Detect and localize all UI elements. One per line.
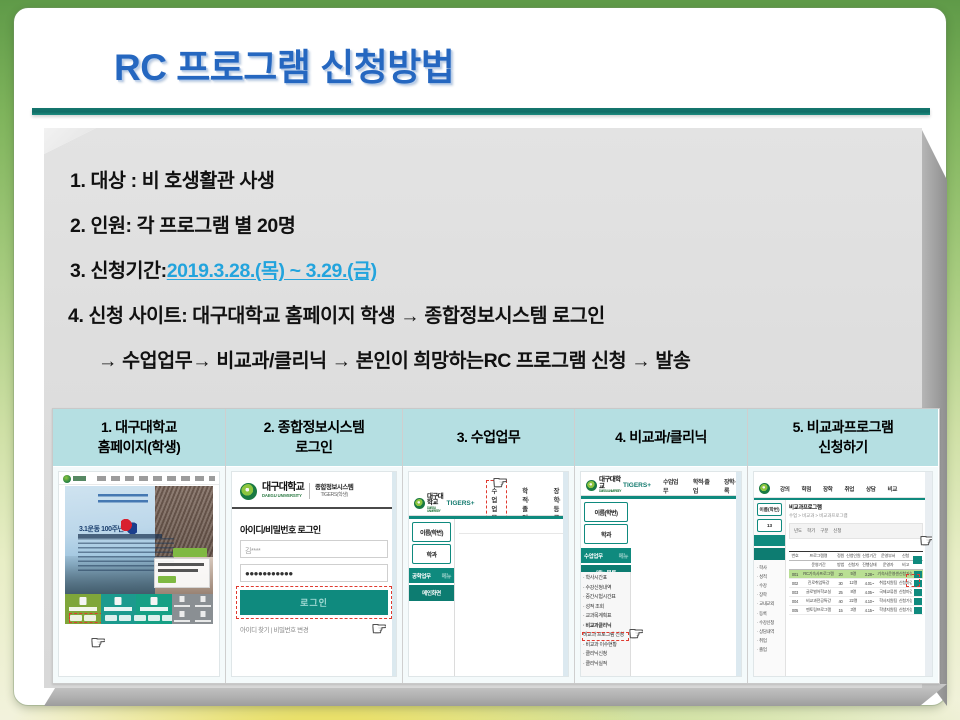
sidebar-section-bar: 공학업무 메뉴	[409, 568, 454, 583]
tile-2-icon	[115, 597, 122, 605]
side-item-2[interactable]: · 수강	[754, 581, 785, 590]
th-period: 신청기간	[861, 553, 877, 559]
title-banner: RC 프로그램 신청방법	[32, 20, 930, 108]
body-line-4: 4. 신청 사이트: 대구대학교 홈페이지 학생 → 종합정보시스템 로그인	[68, 299, 605, 328]
quick-item-4-label	[195, 620, 211, 623]
notice-badge	[158, 576, 176, 583]
th-applicants: 신청인원	[845, 553, 861, 559]
table-row[interactable]: 004 비교과전공특강 40 22명 4.10~ 학사지원팀 신청가능	[789, 597, 923, 606]
filter-label-2: 구분	[820, 528, 828, 534]
th-capacity: 정원	[836, 553, 845, 559]
portal-topbar: 대구대학교 DAEGU UNIVERSITY TIGERS+ 수업업무 학적·졸…	[409, 492, 568, 516]
breadcrumb: 수업 > 비교과 > 비교과프로그램	[789, 513, 923, 519]
hero-100-label: 3.1운동 100주년	[79, 524, 124, 534]
list-menu-5[interactable]: 비교	[888, 485, 898, 493]
list-search-button[interactable]	[913, 556, 922, 564]
screenshot-portal-nav: 대구대학교 DAEGU UNIVERSITY TIGERS+ 수업업무 학적·졸…	[408, 471, 569, 677]
step-header-2: 2. 종합정보시스템 로그인	[226, 409, 402, 467]
th2-3: 신청자	[845, 562, 861, 568]
sidebar-tab-name[interactable]: 이름(학번)	[584, 502, 628, 522]
login-id-input[interactable]: 김****	[240, 540, 388, 558]
portal-brand-en: DAEGU UNIVERSITY	[599, 490, 622, 493]
cell-applicants: 5명	[845, 571, 861, 577]
cell-program: 비교과전공특강	[801, 598, 836, 604]
cell-applicants: 12명	[845, 580, 861, 586]
tree-item-0[interactable]: · 학사시간표	[583, 574, 630, 584]
table-header-row-2: 운영기간 방법 신청자 진행상태 운영자 비고	[789, 561, 923, 570]
slide-frame: RC 프로그램 신청방법 1. 대상 : 비 호생활관 사생 2. 인원: 각 …	[14, 8, 946, 705]
quicklink-tile-3[interactable]	[136, 594, 172, 624]
list-sidebar: 이름(학번) 13 · 학사 · 성적 · 수강 · 장학 · 교내교외 · 등…	[754, 500, 786, 676]
highlight-box-login-button	[236, 586, 392, 619]
tile-1-icon	[79, 597, 86, 605]
table-row[interactable]: 005 멘토링프로그램 15 3명 4.15~ 학생지원팀 신청가능	[789, 606, 923, 615]
cell-action	[912, 589, 923, 596]
hero-badge	[173, 548, 207, 557]
portal-tigers-label: TIGERS+	[623, 482, 651, 489]
step-3-line1: 수업업무	[471, 429, 521, 445]
body-line-5: → 수업업무→ 비교과/클리닉 → 본인이 희망하는RC 프로그램 신청 → 발…	[98, 344, 690, 373]
cell-no: 001	[789, 572, 801, 577]
tile-2-chip-b[interactable]	[119, 615, 131, 621]
hero-notice-card	[154, 558, 210, 588]
cell-period: 4.05~	[861, 590, 877, 595]
list-filter-bar[interactable]: 년도 학기 구분 신청	[789, 523, 923, 539]
filter-label-0: 년도	[794, 528, 802, 534]
login-password-input[interactable]: ●●●●●●●●●●●	[240, 564, 388, 582]
quick-item-1-icon	[180, 596, 185, 602]
step-5-num: 5.	[793, 419, 804, 435]
cell-status: 신청마감	[899, 589, 912, 595]
quick-item-1[interactable]	[172, 594, 193, 609]
tree-item-7[interactable]: · 비교과 이수현황	[583, 641, 630, 651]
sidebar-user-name[interactable]: 이름(학번)	[757, 503, 782, 516]
cell-program: RC기숙사프로그램	[801, 571, 836, 577]
list-content-area: 비교과프로그램 수업 > 비교과 > 비교과프로그램 년도 학기 구분 신청 번…	[786, 500, 926, 676]
sidebar-section-sub: 메뉴	[619, 552, 628, 560]
hero-korean-caption	[98, 494, 148, 506]
cell-applicants: 22명	[845, 598, 861, 604]
nav-menu-hakjeok[interactable]: 학적·졸업	[693, 477, 710, 495]
cell-dept: 학생지원팀	[877, 607, 898, 613]
login-header: 대구대학교 DAEGU UNIVERSITY 종합정보시스템 TIGERS(학생…	[240, 480, 388, 502]
step-header-1: 1. 대구대학교 홈페이지(학생)	[53, 409, 225, 467]
side-item-7[interactable]: · 상담내역	[754, 627, 785, 636]
th2-2: 방법	[836, 562, 845, 568]
th2-1: 운영기간	[801, 562, 836, 568]
list-menu-4[interactable]: 상담	[866, 485, 876, 493]
sidebar-user-num[interactable]: 13	[757, 519, 782, 532]
row-apply-button[interactable]	[914, 607, 922, 614]
th-dept: 운영부서	[877, 553, 898, 559]
sidebar-section-bar: 수업업무 메뉴	[581, 548, 631, 563]
highlight-box-apply-button	[906, 574, 920, 587]
portal-tigers-label: TIGERS+	[447, 500, 475, 507]
quick-item-2[interactable]	[192, 594, 213, 609]
step-3-num: 3.	[457, 429, 468, 445]
tree-item-2[interactable]: · 중간시험시간표	[583, 593, 630, 603]
step-1-line1: 대구대학교	[115, 419, 177, 435]
title-accent-bar	[32, 108, 930, 115]
step-2-num: 2.	[264, 419, 275, 435]
tile-3-chips	[134, 615, 174, 621]
sidebar-section-label: 수업업무	[584, 552, 603, 560]
cell-program: 진로취업특강	[801, 580, 836, 586]
quick-item-4-icon	[200, 611, 205, 617]
body-line-1: 1. 대상 : 비 호생활관 사생	[70, 164, 275, 193]
list-menu-0[interactable]: 강의	[780, 485, 790, 493]
sidebar-main-button[interactable]: 메인화면	[409, 585, 454, 601]
cell-capacity: 30	[836, 581, 845, 586]
cell-no: 005	[789, 608, 801, 613]
row-apply-button[interactable]	[914, 589, 922, 596]
sidebar-list-button[interactable]	[754, 548, 785, 560]
step-column-4: 4. 비교과/클리닉 대구대학교 DAEGU UNIVERSITY TIGERS…	[575, 409, 748, 683]
tile-2-chip-a[interactable]	[105, 615, 117, 621]
portal-page-edge	[736, 472, 741, 676]
th-no: 번호	[789, 553, 801, 559]
tile-3-chip-a[interactable]	[134, 615, 146, 621]
cell-dept: 기숙사운영센터	[877, 571, 898, 577]
university-logo-icon	[759, 483, 770, 494]
cell-no: 004	[789, 599, 801, 604]
portal-brand: 대구대학교 DAEGU UNIVERSITY	[599, 477, 622, 493]
university-logo-icon	[63, 475, 71, 483]
screenshot-login: 대구대학교 DAEGU UNIVERSITY 종합정보시스템 TIGERS(학생…	[231, 471, 397, 677]
quick-item-2-icon	[200, 596, 205, 602]
quick-item-3[interactable]	[172, 609, 193, 624]
step-1-num: 1.	[101, 419, 112, 435]
portal-topbar: 대구대학교 DAEGU UNIVERSITY TIGERS+ 수업업무 학적·졸…	[581, 476, 741, 496]
homepage-hero: 3.1운동 100주년	[65, 486, 213, 594]
screenshot-homepage: 3.1운동 100주년	[58, 471, 220, 677]
body-line-3: 3. 신청기간:2019.3.28.(목) ~ 3.29.(금)	[70, 254, 377, 283]
tile-1-label	[69, 607, 97, 611]
login-password-value: ●●●●●●●●●●●	[245, 569, 293, 578]
cell-program: 멘토링프로그램	[801, 607, 836, 613]
homepage-quicklinks	[65, 594, 213, 624]
list-page-edge	[925, 472, 932, 676]
tree-item-4[interactable]: · 교과목계획표	[583, 612, 630, 622]
portal-page-edge	[563, 472, 568, 676]
portal-sidebar: 이름(학번) 학과 공학업무 메뉴 메인화면	[409, 519, 455, 676]
step-4-line1: 비교과/클리닉	[629, 429, 707, 445]
table-row[interactable]: 003 글로벌어학교실 25 8명 4.05~ 국제교류원 신청마감	[789, 588, 923, 597]
tile-2-chips	[105, 615, 131, 621]
portal-brand: 대구대학교 DAEGU UNIVERSITY	[427, 494, 446, 513]
login-system-ko: 종합정보시스템	[315, 484, 353, 491]
university-logo-icon	[414, 498, 425, 509]
cell-capacity: 15	[836, 608, 845, 613]
side-item-0[interactable]: · 학사	[754, 563, 785, 572]
table-header-row-1: 번호 프로그램명 정원 신청인원 신청기간 운영부서 신청	[789, 552, 923, 561]
university-logo-icon	[240, 483, 257, 500]
quick-item-4[interactable]	[192, 609, 213, 624]
tree-item-5[interactable]: · 비교과클리닉	[583, 622, 630, 632]
side-item-8[interactable]: · 취업	[754, 637, 785, 646]
step-body-1: 3.1운동 100주년	[53, 467, 225, 683]
portal-content-area	[455, 519, 568, 676]
th-program: 프로그램명	[801, 553, 836, 559]
login-university-en: DAEGU UNIVERSITY	[262, 494, 304, 498]
cell-period: 4.15~	[861, 608, 877, 613]
list-menu-3[interactable]: 취업	[845, 485, 855, 493]
portal-brand-ko: 대구대학교	[427, 493, 443, 507]
step-column-3: 3. 수업업무 대구대학교 DAEGU UNIVERSITY TIGERS+ 수…	[403, 409, 575, 683]
notice-line-2	[158, 569, 198, 572]
tile-3-label	[140, 607, 168, 611]
quick-item-1-label	[174, 605, 190, 608]
cell-applicants: 8명	[845, 589, 861, 595]
filter-label-3: 신청	[833, 528, 841, 534]
korea-flag-mark-icon	[121, 519, 137, 534]
cell-dept: 국제교류원	[877, 589, 898, 595]
cell-status: 신청가능	[899, 607, 912, 613]
step-column-5: 5. 비교과프로그램 신청하기 강의 학점 장학 취업 상담	[748, 409, 938, 683]
homepage-nav-strip	[97, 476, 215, 481]
university-logo-icon	[586, 480, 597, 491]
portal-brand-ko: 대구대학교	[599, 476, 621, 490]
table-row[interactable]: 001 RC기숙사프로그램 20 5명 3.28~ 기숙사운영센터 신청가능	[789, 570, 923, 579]
th-apply: 신청	[899, 553, 912, 559]
cell-capacity: 25	[836, 590, 845, 595]
side-item-1[interactable]: · 성적	[754, 572, 785, 581]
body-line-2: 2. 인원: 각 프로그램 별 20명	[70, 209, 295, 238]
step-column-2: 2. 종합정보시스템 로그인 대구대학교 DAEGU UNIVERSITY	[226, 409, 403, 683]
cell-no: 002	[789, 581, 801, 586]
cell-capacity: 40	[836, 599, 845, 604]
sidebar-tab-name[interactable]: 이름(학번)	[412, 522, 451, 542]
filter-label-1: 학기	[807, 528, 815, 534]
step-2-line1: 종합정보시스템	[278, 419, 365, 435]
login-system-name: 종합정보시스템 TIGERS(학생)	[315, 484, 353, 498]
list-menu-1[interactable]: 학점	[802, 485, 812, 493]
quicklink-tile-2[interactable]	[101, 594, 137, 624]
quicklink-tile-4[interactable]	[172, 594, 213, 624]
th2-6: 비고	[899, 562, 912, 568]
portal-nav-menus: 수업업무 학적·졸업 장학·등록	[663, 477, 741, 495]
nav-menu-suup[interactable]: 수업업무	[663, 477, 679, 495]
login-footer-links[interactable]: 아이디 찾기 | 비밀번호 변경	[240, 624, 308, 634]
sidebar-section-label: 공학업무	[412, 572, 431, 580]
tree-item-9[interactable]: · 클리닉실적	[583, 660, 630, 670]
step-body-5: 강의 학점 장학 취업 상담 비교 이름(학번) 13	[748, 467, 938, 683]
table-row[interactable]: 002 진로취업특강 30 12명 4.01~ 취업지원팀 신청마감	[789, 579, 923, 588]
quick-item-3-icon	[180, 611, 185, 617]
sidebar-menu-items: · 학사 · 성적 · 수강 · 장학 · 교내교외 · 등록 · 수강신청 ·…	[754, 563, 785, 655]
cell-capacity: 20	[836, 572, 845, 577]
list-nav-menus: 강의 학점 장학 취업 상담 비교	[780, 485, 897, 493]
list-data-table: 번호 프로그램명 정원 신청인원 신청기간 운영부서 신청	[789, 551, 923, 615]
tile-3-icon	[151, 597, 158, 605]
cell-period: 4.01~	[861, 581, 877, 586]
side-item-4[interactable]: · 교내교외	[754, 600, 785, 609]
header-divider	[309, 483, 310, 499]
quicklink-tile-1[interactable]	[65, 594, 101, 624]
cell-action	[912, 598, 923, 605]
tree-item-1[interactable]: · 수강신청내역	[583, 584, 630, 594]
content-divider	[459, 533, 564, 534]
cell-period: 4.10~	[861, 599, 877, 604]
step-body-2: 대구대학교 DAEGU UNIVERSITY 종합정보시스템 TIGERS(학생…	[226, 467, 402, 683]
login-system-sub: TIGERS(학생)	[315, 492, 353, 498]
cell-status: 신청가능	[899, 598, 912, 604]
screenshot-program-list: 강의 학점 장학 취업 상담 비교 이름(학번) 13	[753, 471, 933, 677]
cell-dept: 학사지원팀	[877, 598, 898, 604]
side-item-6[interactable]: · 수강신청	[754, 618, 785, 627]
login-university-ko: 대구대학교	[262, 482, 304, 493]
step-5-line1: 비교과프로그램	[807, 419, 894, 435]
login-university-name: 대구대학교 DAEGU UNIVERSITY	[262, 483, 304, 498]
sidebar-tab-dept[interactable]: 학과	[584, 524, 628, 544]
screenshot-menu-tree: 대구대학교 DAEGU UNIVERSITY TIGERS+ 수업업무 학적·졸…	[580, 471, 742, 677]
portal-content-area	[631, 499, 741, 676]
step-body-4: 대구대학교 DAEGU UNIVERSITY TIGERS+ 수업업무 학적·졸…	[575, 467, 747, 683]
sidebar-section-sub: 메뉴	[442, 572, 451, 580]
th2-4: 진행상태	[861, 562, 877, 568]
cell-period: 3.28~	[861, 572, 877, 577]
quick-item-3-label	[174, 620, 190, 623]
login-form-title: 아이디/비밀번호 로그인	[240, 523, 321, 536]
portal-brand-en: DAEGU UNIVERSITY	[427, 507, 446, 513]
cell-program: 글로벌어학교실	[801, 589, 836, 595]
row-apply-button[interactable]	[914, 598, 922, 605]
login-page-edge	[392, 472, 396, 676]
university-wordmark	[73, 476, 95, 481]
list-topbar: 강의 학점 장학 취업 상담 비교	[754, 480, 932, 498]
list-page-title: 비교과프로그램	[789, 503, 923, 511]
body-line-3-label: 3. 신청기간:	[70, 260, 167, 282]
login-id-value: 김****	[245, 546, 260, 556]
quick-item-2-label	[195, 605, 211, 608]
cell-action	[912, 607, 923, 614]
homepage-topbar	[59, 472, 219, 485]
application-period-link[interactable]: 2019.3.28.(목) ~ 3.29.(금)	[167, 260, 377, 282]
cell-dept: 취업지원팀	[877, 580, 898, 586]
tree-item-8[interactable]: · 클리닉신청	[583, 650, 630, 660]
page-title: RC 프로그램 신청방법	[114, 37, 454, 91]
cell-no: 003	[789, 590, 801, 595]
notice-line-1	[158, 563, 204, 566]
side-item-3[interactable]: · 장학	[754, 591, 785, 600]
step-5-line2: 신청하기	[818, 439, 868, 455]
th2-5: 운영자	[877, 562, 898, 568]
login-header-rule	[232, 507, 396, 509]
step-header-5: 5. 비교과프로그램 신청하기	[748, 409, 938, 467]
step-header-3: 3. 수업업무	[403, 409, 574, 467]
step-2-line2: 로그인	[295, 439, 332, 455]
step-body-3: 대구대학교 DAEGU UNIVERSITY TIGERS+ 수업업무 학적·졸…	[403, 467, 574, 683]
step-header-4: 4. 비교과/클리닉	[575, 409, 747, 467]
highlight-box-menu-item	[582, 632, 629, 641]
sidebar-tab-dept[interactable]: 학과	[412, 544, 451, 564]
list-menu-2[interactable]: 장학	[823, 485, 833, 493]
side-item-9[interactable]: · 졸업	[754, 646, 785, 655]
sidebar-menu-tree: · 학사시간표 · 수강신청내역 · 중간시험시간표 · 성적 조회 · 교과목…	[581, 572, 631, 676]
sidebar-section-bar	[754, 535, 785, 546]
tile-3-chip-b[interactable]	[148, 615, 160, 621]
step-1-line2: 홈페이지(학생)	[98, 439, 181, 455]
steps-table: 1. 대구대학교 홈페이지(학생)	[52, 408, 940, 684]
tree-item-3[interactable]: · 성적 조회	[583, 603, 630, 613]
cell-applicants: 3명	[845, 607, 861, 613]
tile-2-label	[104, 607, 132, 611]
step-column-1: 1. 대구대학교 홈페이지(학생)	[53, 409, 226, 683]
step-4-num: 4.	[615, 429, 626, 445]
side-item-5[interactable]: · 등록	[754, 609, 785, 618]
